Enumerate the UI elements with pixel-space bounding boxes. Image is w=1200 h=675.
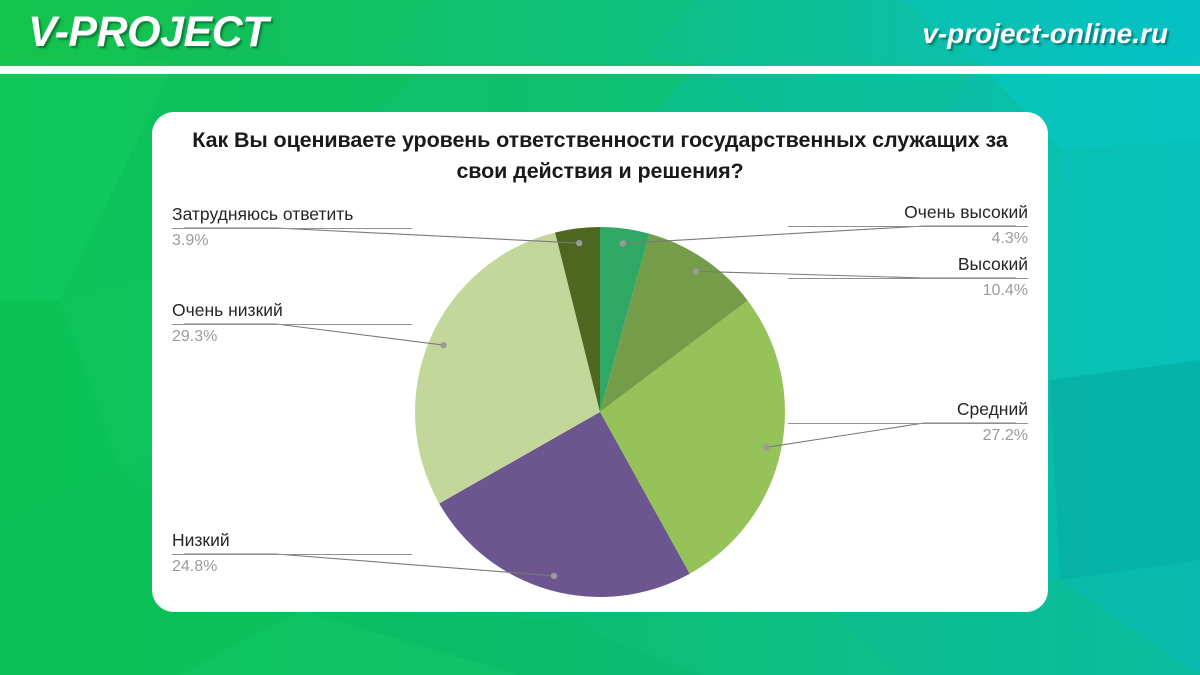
leader-dot — [620, 240, 626, 246]
brand-logo[interactable]: V-PROJECT — [28, 8, 268, 57]
chart-card: Как Вы оцениваете уровень ответственност… — [152, 112, 1048, 612]
callout-ochen-nizkiy[interactable]: Очень низкий 29.3% — [172, 300, 412, 347]
callout-nizkiy[interactable]: Низкий 24.8% — [172, 530, 412, 577]
callout-vysokiy[interactable]: Высокий 10.4% — [788, 254, 1028, 301]
callout-label: Очень низкий — [172, 300, 412, 324]
header-divider — [0, 66, 1200, 74]
callout-ochen-vysokiy[interactable]: Очень высокий 4.3% — [788, 202, 1028, 249]
callout-label: Низкий — [172, 530, 412, 554]
leader-dot — [576, 240, 582, 246]
leader-dot — [551, 573, 557, 579]
site-url[interactable]: v-project-online.ru — [922, 18, 1168, 50]
callout-zatrudnyayus[interactable]: Затрудняюсь ответить 3.9% — [172, 204, 412, 251]
callout-label: Высокий — [788, 254, 1028, 278]
callout-value: 27.2% — [788, 423, 1028, 446]
callout-label: Средний — [788, 399, 1028, 423]
callout-value: 3.9% — [172, 228, 412, 251]
callout-sredniy[interactable]: Средний 27.2% — [788, 399, 1028, 446]
callout-value: 29.3% — [172, 324, 412, 347]
callout-label: Очень высокий — [788, 202, 1028, 226]
leader-dot — [440, 342, 446, 348]
callout-value: 10.4% — [788, 278, 1028, 301]
callout-value: 24.8% — [172, 554, 412, 577]
callout-value: 4.3% — [788, 226, 1028, 249]
pie-slices[interactable] — [415, 227, 785, 597]
leader-dot — [693, 268, 699, 274]
callout-label: Затрудняюсь ответить — [172, 204, 412, 228]
site-header: V-PROJECT v-project-online.ru — [0, 0, 1200, 63]
leader-dot — [763, 444, 769, 450]
